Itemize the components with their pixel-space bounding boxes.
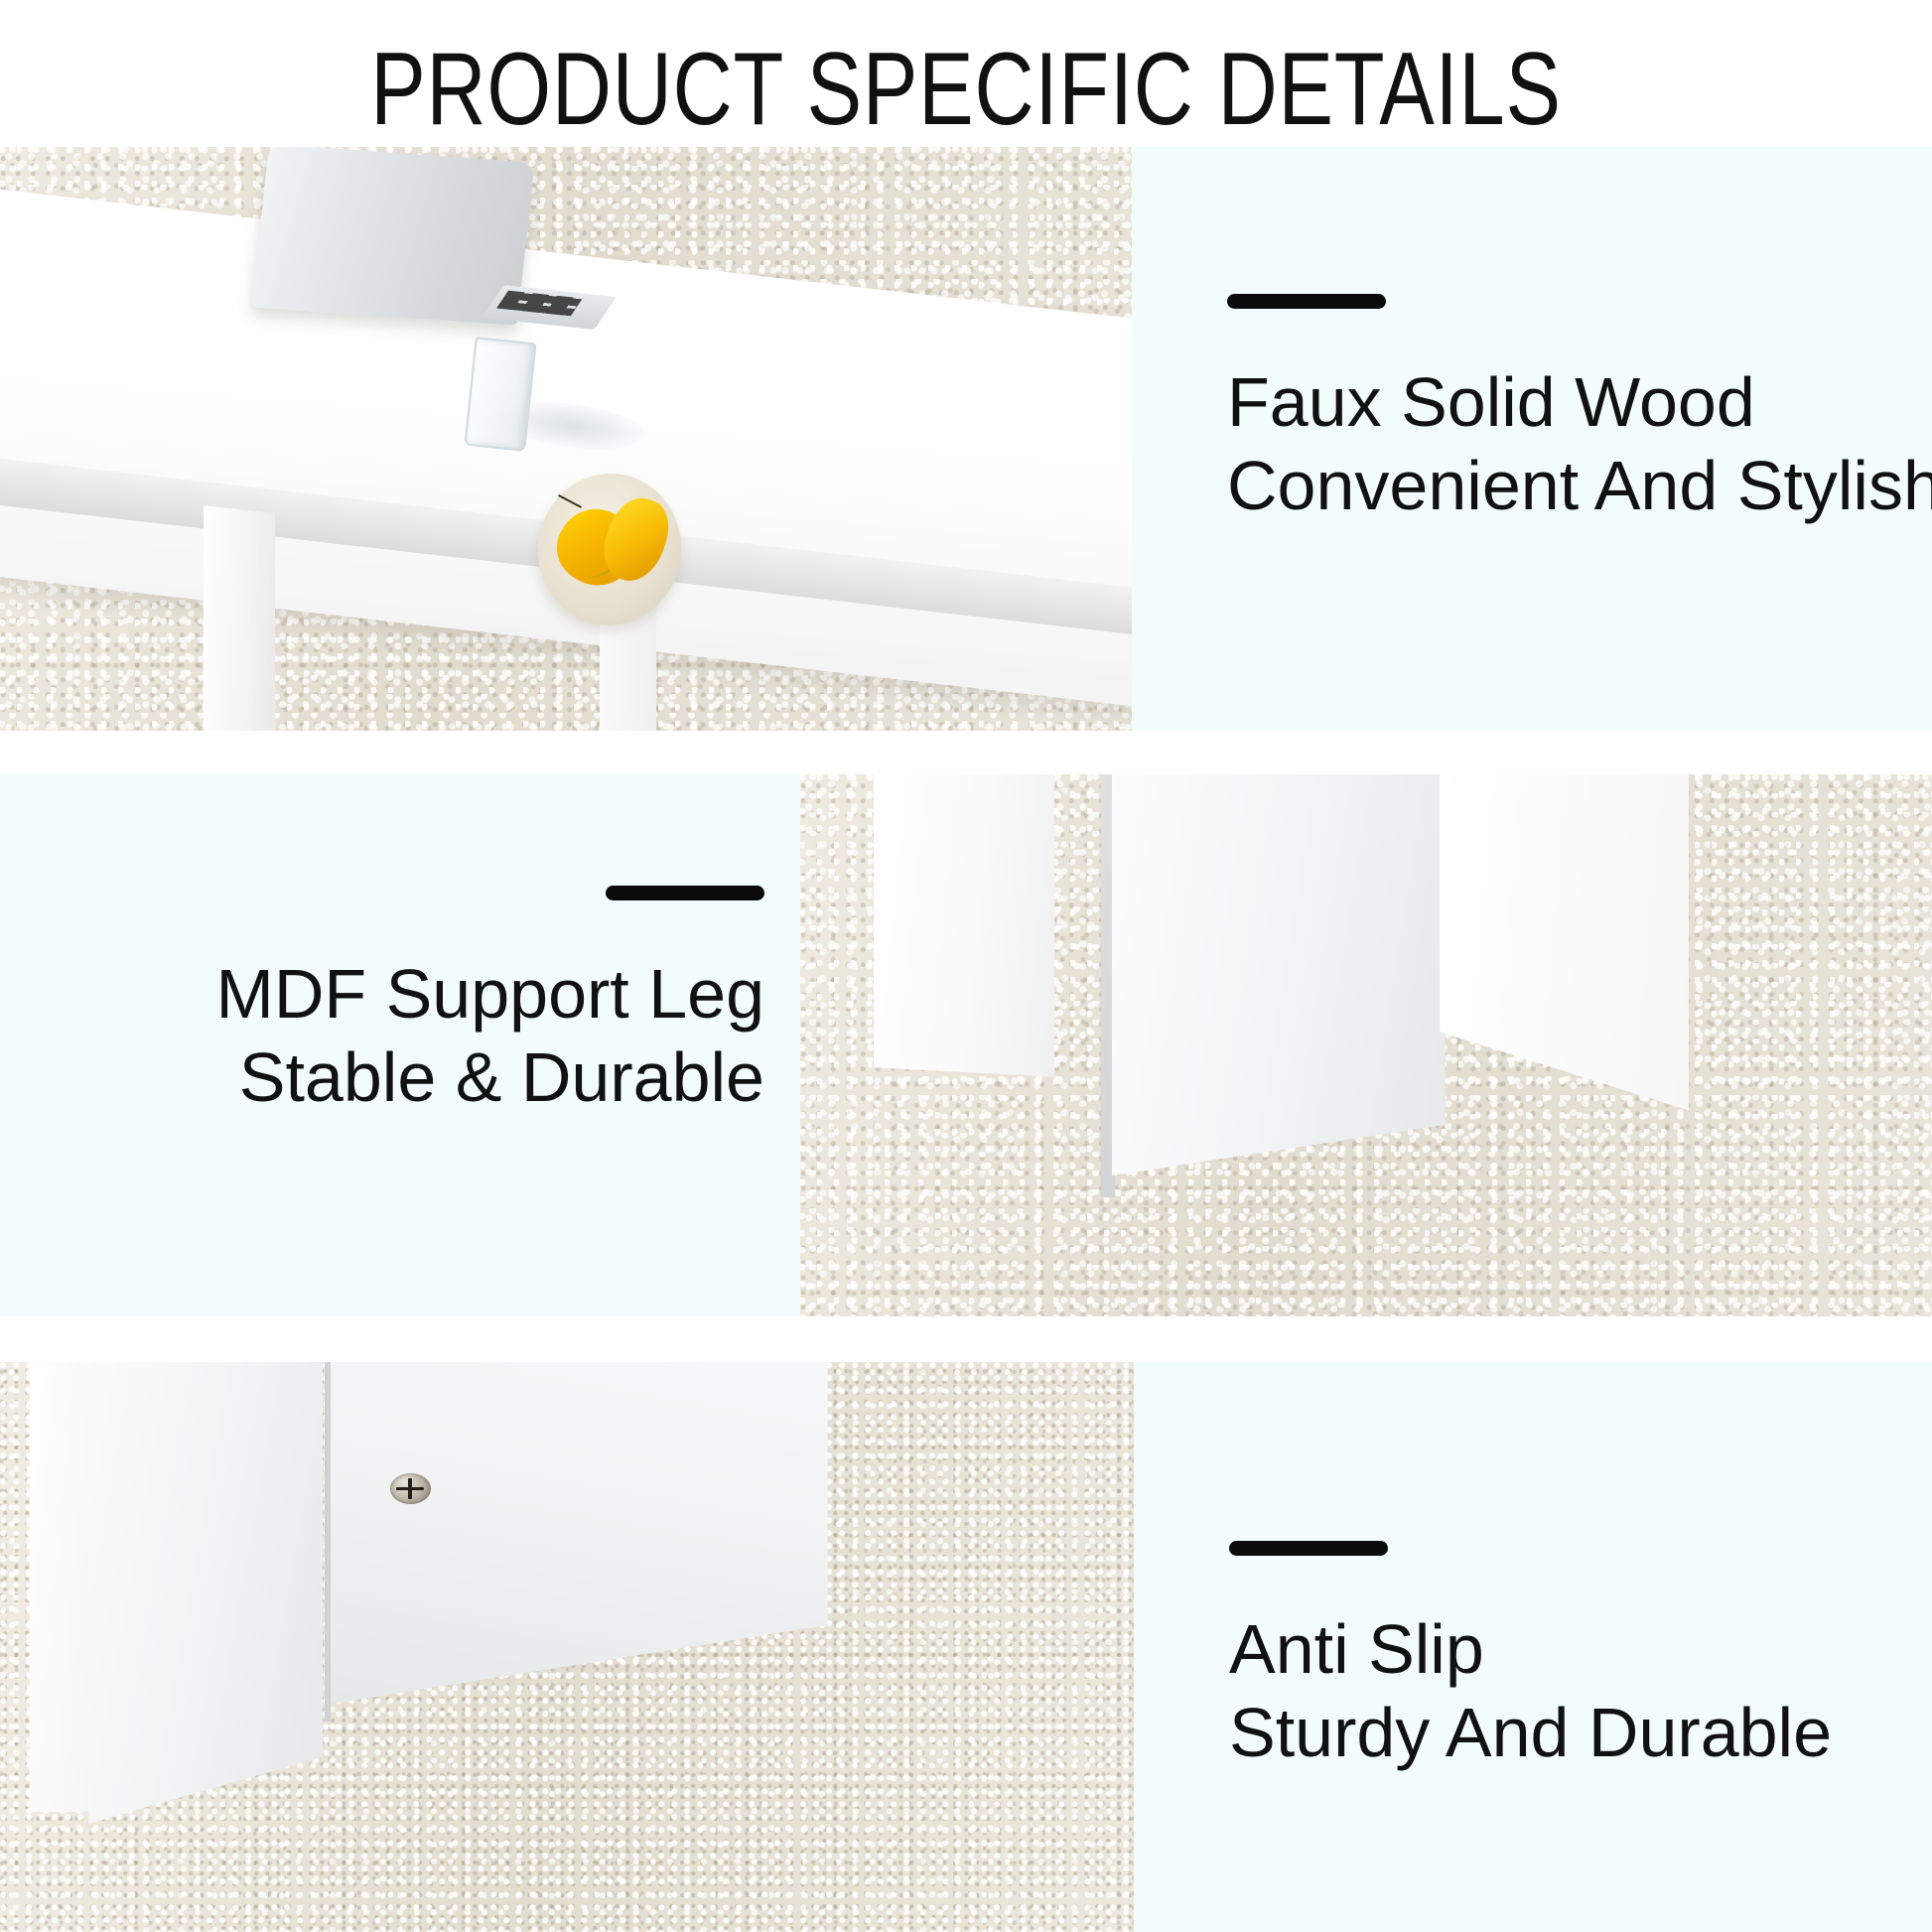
accent-dash-icon xyxy=(1227,294,1386,309)
accent-dash-icon xyxy=(1229,1541,1388,1556)
feature-text-panel-faux-solid-wood: Faux Solid Wood Convenient And Stylish xyxy=(1132,147,1932,731)
feature-text-panel-mdf-support-leg: MDF Support Leg Stable & Durable xyxy=(0,774,800,1316)
mdf-leg-front-face xyxy=(1112,774,1446,1175)
laptop-icon xyxy=(252,147,534,325)
mdf-panel-corner-seam xyxy=(325,1362,331,1722)
feature-heading-line2: Sturdy And Durable xyxy=(1229,1691,1894,1774)
desk-leg xyxy=(204,505,275,731)
page-title: PRODUCT SPECIFIC DETAILS xyxy=(194,32,1739,147)
mdf-panel-front-face xyxy=(88,1362,323,1824)
feature-row-faux-solid-wood: Faux Solid Wood Convenient And Stylish xyxy=(0,147,1932,731)
feature-photo-mdf-support-leg xyxy=(800,774,1932,1316)
feature-row-anti-slip: Anti Slip Sturdy And Durable xyxy=(0,1362,1932,1932)
drinking-glass-icon xyxy=(465,337,537,452)
feature-heading-line1: Faux Solid Wood xyxy=(1227,360,1892,444)
feature-row-mdf-support-leg: MDF Support Leg Stable & Durable xyxy=(0,774,1932,1316)
feature-photo-anti-slip xyxy=(0,1362,1134,1932)
mdf-leg-left xyxy=(874,774,1054,1077)
feature-heading-line2: Stable & Durable xyxy=(40,1035,764,1119)
product-detail-infographic: PRODUCT SPECIFIC DETAILS Faux Solid Wood xyxy=(0,0,1932,1932)
feature-heading-line1: MDF Support Leg xyxy=(40,952,764,1035)
feature-heading-line1: Anti Slip xyxy=(1229,1607,1894,1691)
mdf-panel-left-edge xyxy=(30,1362,91,1812)
screw-icon xyxy=(390,1473,431,1504)
feature-text-panel-anti-slip: Anti Slip Sturdy And Durable xyxy=(1134,1362,1932,1932)
feature-photo-faux-solid-wood xyxy=(0,147,1132,731)
feature-heading-line2: Convenient And Stylish xyxy=(1227,444,1892,527)
accent-dash-icon xyxy=(606,886,764,900)
